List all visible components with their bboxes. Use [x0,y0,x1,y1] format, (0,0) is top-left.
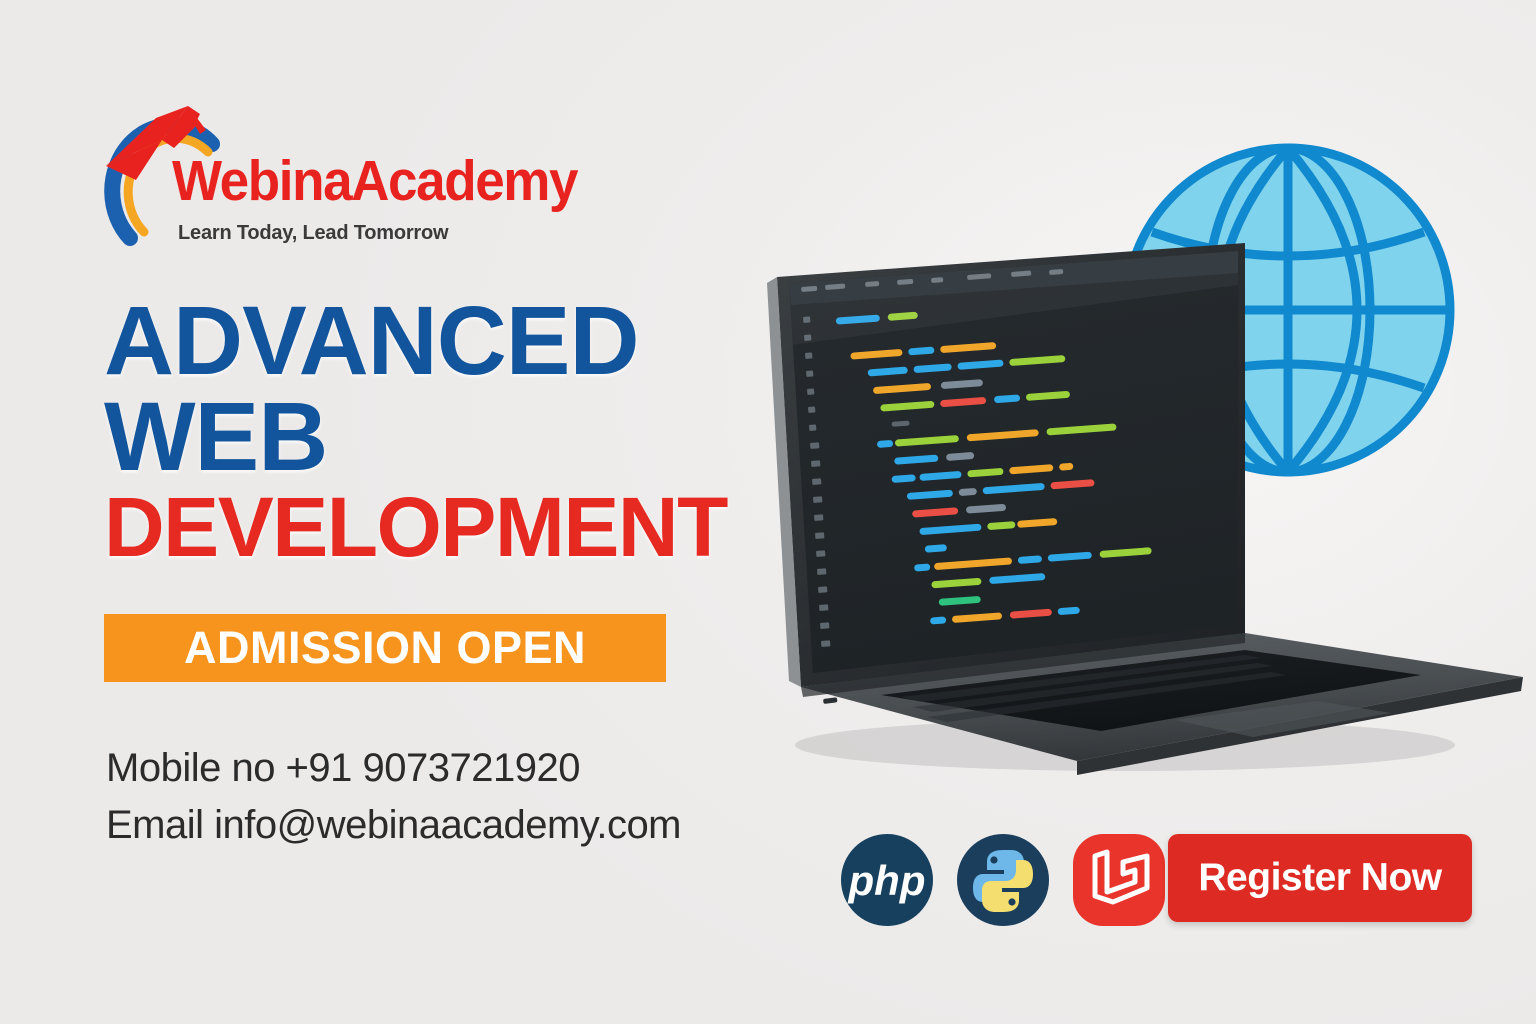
brand-tagline: Learn Today, Lead Tomorrow [178,222,448,245]
svg-text:php: php [848,857,926,904]
contact-email: Email info@webinaacademy.com [106,797,681,854]
brand-logo[interactable]: WebinaAcademy Learn Today, Lead Tomorrow [100,100,520,260]
headline-line-2: WEB [104,392,804,482]
headline-group: ADVANCED WEB DEVELOPMENT [104,296,804,567]
python-icon [949,826,1057,934]
tech-stack-icons: php [833,826,1173,934]
register-now-button[interactable]: Register Now [1168,834,1472,922]
brand-name: WebinaAcademy [172,148,577,214]
register-now-label: Register Now [1198,856,1441,900]
contact-block: Mobile no +91 9073721920 Email info@webi… [106,740,681,854]
laptop-graphic [705,225,1535,785]
promo-poster: WebinaAcademy Learn Today, Lead Tomorrow… [0,0,1536,1024]
php-icon: php [833,826,941,934]
admission-open-label: ADMISSION OPEN [184,622,586,674]
headline-line-1: ADVANCED [104,296,804,386]
headline-line-3: DEVELOPMENT [104,488,804,566]
admission-open-badge: ADMISSION OPEN [104,614,666,682]
laravel-icon [1065,826,1173,934]
contact-mobile: Mobile no +91 9073721920 [106,740,681,797]
